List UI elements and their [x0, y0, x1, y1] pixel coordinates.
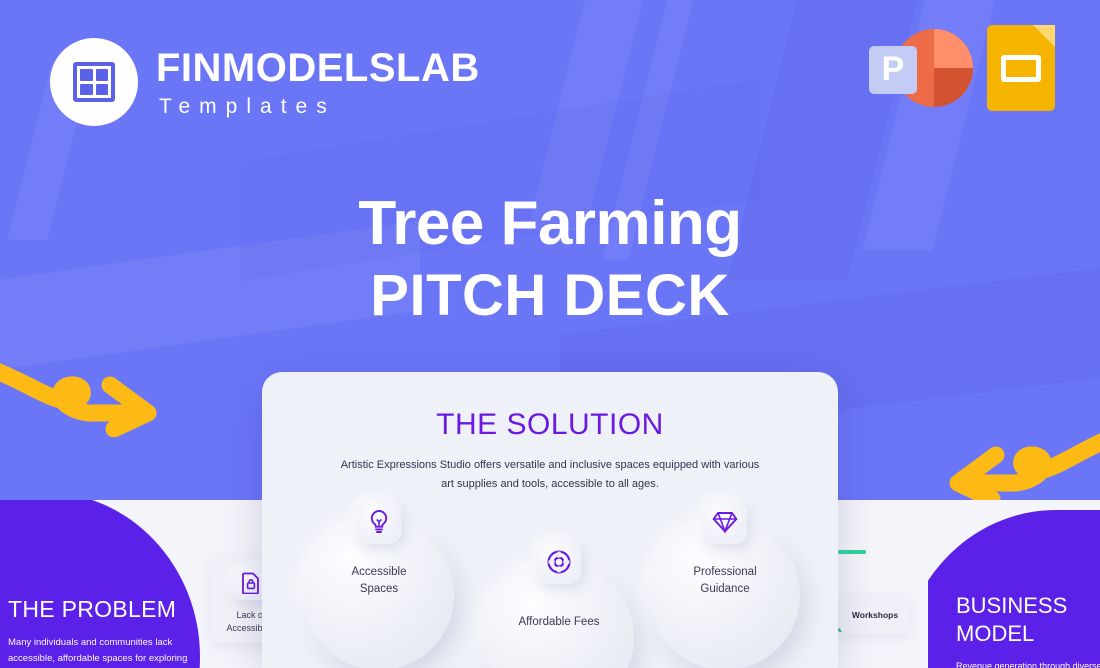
workshops-chart-card[interactable]: Workshops [840, 596, 910, 634]
page-subtitle: PITCH DECK [0, 262, 1100, 329]
accent-line-right [838, 550, 864, 554]
lifebuoy-icon [537, 540, 581, 584]
business-model-body: Revenue generation through diverse strea… [956, 659, 1100, 668]
page-title: Tree Farming [0, 188, 1100, 259]
pitch-deck-banner: FINMODELSLAB Templates P Tree Farming PI… [0, 0, 1100, 668]
problem-title: THE PROBLEM [8, 596, 198, 623]
workshops-label: Workshops [852, 610, 898, 620]
problem-text-block: THE PROBLEM Many individuals and communi… [8, 596, 198, 668]
slide-business-model[interactable]: BUSINESS MODEL Revenue generation throug… [928, 500, 1100, 668]
slides-page-fold [1033, 25, 1055, 47]
business-model-title: BUSINESS MODEL [956, 592, 1100, 647]
squiggly-arrow-left-icon [938, 425, 1100, 512]
logo-circle [50, 38, 138, 126]
format-icons: P [869, 23, 1055, 113]
feature-2-label: Affordable Fees [519, 614, 600, 631]
feature-3-label: ProfessionalGuidance [693, 564, 756, 597]
solution-body: Artistic Expressions Studio offers versa… [340, 456, 760, 495]
solution-title: THE SOLUTION [262, 408, 838, 442]
diamond-icon [703, 500, 747, 544]
powerpoint-letter: P [882, 52, 905, 86]
slide-solution[interactable]: THE SOLUTION Artistic Expressions Studio… [262, 372, 838, 668]
business-model-text-block: BUSINESS MODEL Revenue generation throug… [956, 592, 1100, 668]
brand-logo[interactable]: FINMODELSLAB Templates [50, 38, 480, 126]
google-slides-icon[interactable] [987, 25, 1055, 111]
powerpoint-icon[interactable]: P [869, 23, 965, 113]
powerpoint-letter-tile: P [869, 46, 917, 94]
squiggly-arrow-right-icon [0, 355, 172, 442]
grid-icon [73, 62, 115, 102]
brand-name: FINMODELSLAB [156, 48, 480, 88]
lightbulb-icon [357, 500, 401, 544]
brand-subtitle: Templates [156, 96, 480, 117]
slides-screen-glyph [1001, 55, 1041, 82]
logo-text: FINMODELSLAB Templates [156, 48, 480, 117]
feature-1-label: AccessibleSpaces [352, 564, 407, 597]
problem-body: Many individuals and communities lack ac… [8, 635, 198, 668]
